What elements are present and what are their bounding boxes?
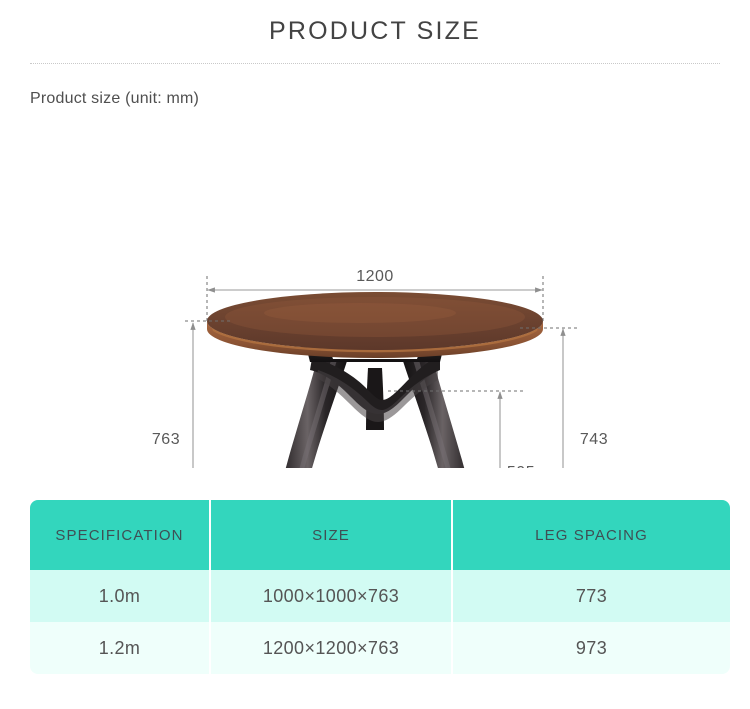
subtitle-unit-note: Product size (unit: mm) [30,90,750,108]
table-row: 1.2m 1200×1200×763 973 [30,622,730,674]
cell-leg-spacing: 773 [453,570,730,622]
cell-specification: 1.2m [30,622,211,674]
dimension-diagram: 1200 763 743 505 973 [0,118,750,468]
specification-table: SPECIFICATION SIZE LEG SPACING 1.0m 1000… [30,500,730,674]
table-header: SPECIFICATION SIZE LEG SPACING [30,500,730,570]
page-header: PRODUCT SIZE [0,0,750,64]
cell-size: 1200×1200×763 [211,622,453,674]
dim-label-top-width: 1200 [356,268,394,285]
dim-label-height-right: 743 [580,431,608,448]
dim-label-leg-clearance: 505 [507,464,535,468]
dim-label-height-left: 763 [152,431,180,448]
column-header-specification: SPECIFICATION [30,500,211,570]
table-header-row: SPECIFICATION SIZE LEG SPACING [30,500,730,570]
column-header-size: SIZE [211,500,453,570]
cell-size: 1000×1000×763 [211,570,453,622]
table-top-graphic [207,292,543,358]
cell-leg-spacing: 973 [453,622,730,674]
table-dimension-drawing: 1200 763 743 505 973 [0,118,750,468]
header-divider [30,63,720,64]
table-body: 1.0m 1000×1000×763 773 1.2m 1200×1200×76… [30,570,730,674]
table-base-graphic [258,342,492,468]
table-row: 1.0m 1000×1000×763 773 [30,570,730,622]
page-title: PRODUCT SIZE [0,18,750,46]
cell-specification: 1.0m [30,570,211,622]
column-header-leg-spacing: LEG SPACING [453,500,730,570]
